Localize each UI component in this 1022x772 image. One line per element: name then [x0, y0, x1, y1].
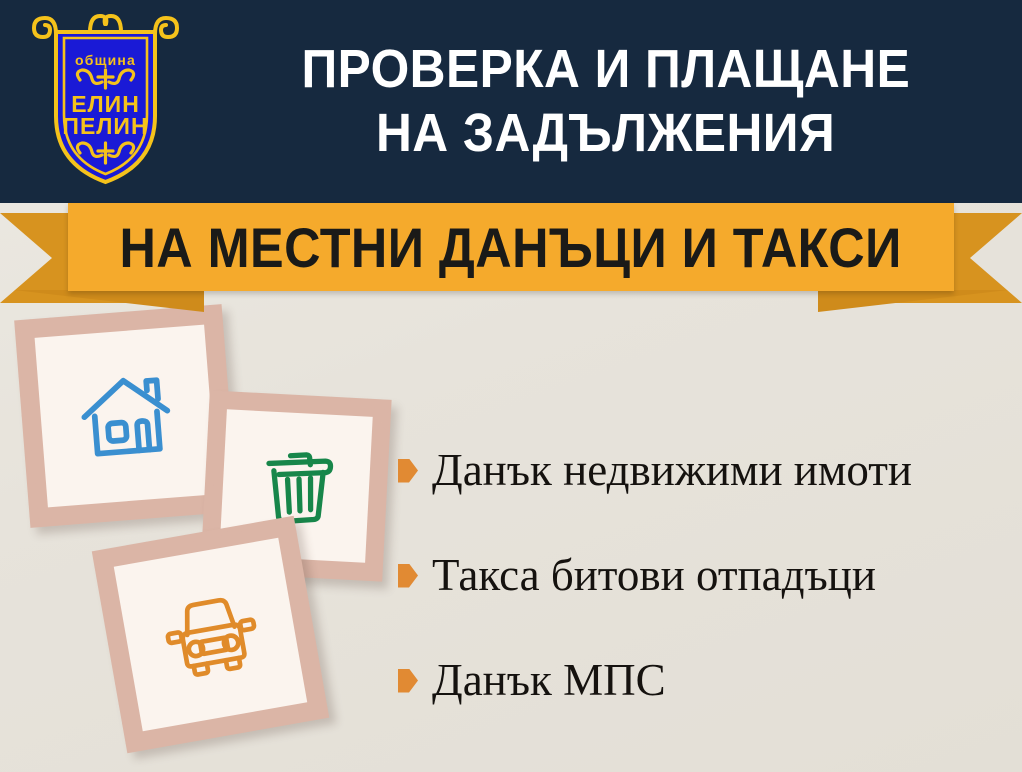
- ribbon-label: НА МЕСТНИ ДАНЪЦИ И ТАКСИ: [120, 215, 902, 280]
- list-item[interactable]: Такса битови отпадъци: [398, 523, 1022, 628]
- bullet-arrow-icon: [398, 564, 418, 588]
- car-icon: [92, 516, 329, 753]
- poster-header: община ЕЛИН ПЕЛИН ПРОВЕРКА И ПЛ: [0, 0, 1022, 203]
- ribbon-banner: НА МЕСТНИ ДАНЪЦИ И ТАКСИ: [68, 203, 954, 291]
- list-item[interactable]: Данък недвижими имоти: [398, 418, 1022, 523]
- list-item-label: Данък недвижими имоти: [432, 448, 912, 493]
- poster-canvas: община ЕЛИН ПЕЛИН ПРОВЕРКА И ПЛ: [0, 0, 1022, 772]
- crest-text-line2: ПЕЛИН: [62, 113, 148, 139]
- poster-title-line-1: ПРОВЕРКА И ПЛАЩАНЕ: [302, 38, 911, 102]
- poster-title: ПРОВЕРКА И ПЛАЩАНЕ НА ЗАДЪЛЖЕНИЯ: [190, 0, 1022, 203]
- crest-text-top: община: [75, 52, 136, 68]
- poster-title-line-2: НА ЗАДЪЛЖЕНИЯ: [376, 102, 835, 166]
- list-item-label: Такса битови отпадъци: [432, 553, 876, 598]
- list-item[interactable]: Данък МПС: [398, 628, 1022, 733]
- list-item-label: Данък МПС: [432, 658, 666, 703]
- coat-of-arms-crest: община ЕЛИН ПЕЛИН: [28, 8, 183, 188]
- bullet-arrow-icon: [398, 459, 418, 483]
- stamp-card-vehicle: [92, 516, 329, 753]
- stamp-card-group: [0, 300, 420, 772]
- tax-type-list: Данък недвижими имоти Такса битови отпад…: [398, 418, 1022, 733]
- subtitle-ribbon: НА МЕСТНИ ДАНЪЦИ И ТАКСИ: [0, 203, 1022, 313]
- bullet-arrow-icon: [398, 669, 418, 693]
